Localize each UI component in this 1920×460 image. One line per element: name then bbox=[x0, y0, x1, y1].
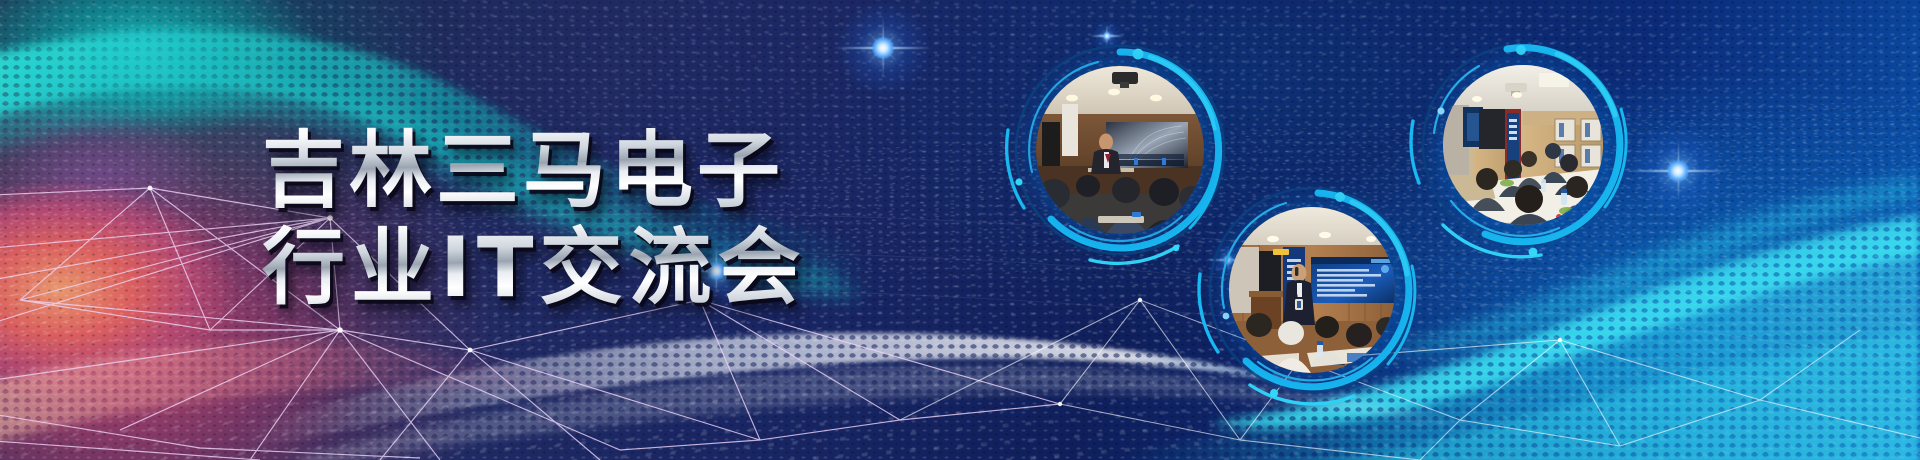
medallion-3-photo bbox=[1229, 207, 1395, 373]
medallion-2-photo bbox=[1443, 65, 1603, 225]
headline-line-2: 行业IT交流会 bbox=[262, 215, 807, 320]
page-title: 吉林三马电子 行业IT交流会 bbox=[262, 118, 807, 320]
medallion-1-photo bbox=[1036, 66, 1204, 234]
event-banner: 吉林三马电子 行业IT交流会 bbox=[0, 0, 1920, 460]
headline-line-1: 吉林三马电子 bbox=[262, 118, 807, 223]
